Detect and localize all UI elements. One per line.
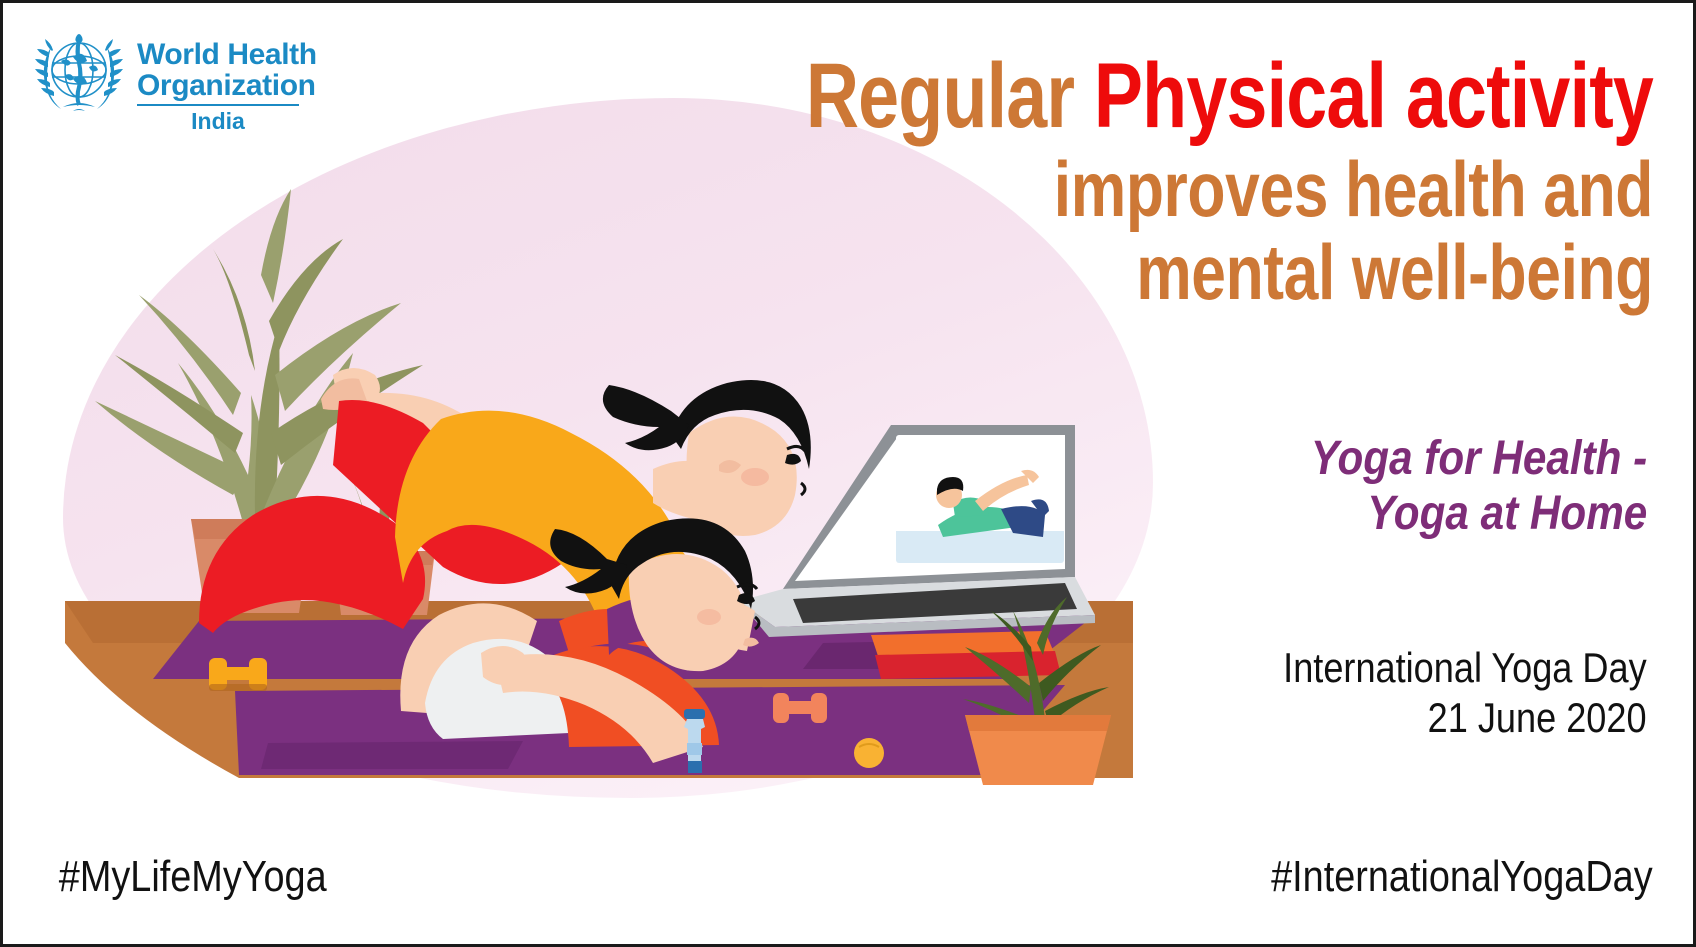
event-date: 21 June 2020 xyxy=(1027,693,1647,743)
headline-regular: Regular xyxy=(806,45,1074,147)
headline-physical-activity: Physical activity xyxy=(1094,45,1653,147)
logo-line-2: Organization xyxy=(137,70,317,101)
logo-line-3: India xyxy=(137,108,299,135)
subheadline: Yoga for Health - Yoga at Home xyxy=(1027,431,1647,541)
event-info: International Yoga Day 21 June 2020 xyxy=(1027,643,1647,742)
headline-line-1: Regular Physical activity xyxy=(523,51,1653,141)
headline-line-2: improves health and xyxy=(523,151,1653,227)
headline: Regular Physical activity improves healt… xyxy=(523,51,1653,310)
event-name: International Yoga Day xyxy=(1027,643,1647,693)
who-logo: World Health Organization India xyxy=(29,21,329,136)
subheadline-line-1: Yoga for Health - xyxy=(1027,431,1647,486)
poster-canvas: World Health Organization India Regular … xyxy=(0,0,1696,947)
logo-divider xyxy=(137,104,299,106)
headline-line-3: mental well-being xyxy=(523,234,1653,310)
hashtag-mylifemyyoga: #MyLifeMyYoga xyxy=(37,852,348,902)
who-emblem-icon xyxy=(29,23,129,123)
exercise-ball xyxy=(854,738,884,768)
logo-line-1: World Health xyxy=(137,39,317,70)
hashtag-internationalyogaday: #InternationalYogaDay xyxy=(1209,852,1653,902)
subheadline-line-2: Yoga at Home xyxy=(1027,486,1647,541)
